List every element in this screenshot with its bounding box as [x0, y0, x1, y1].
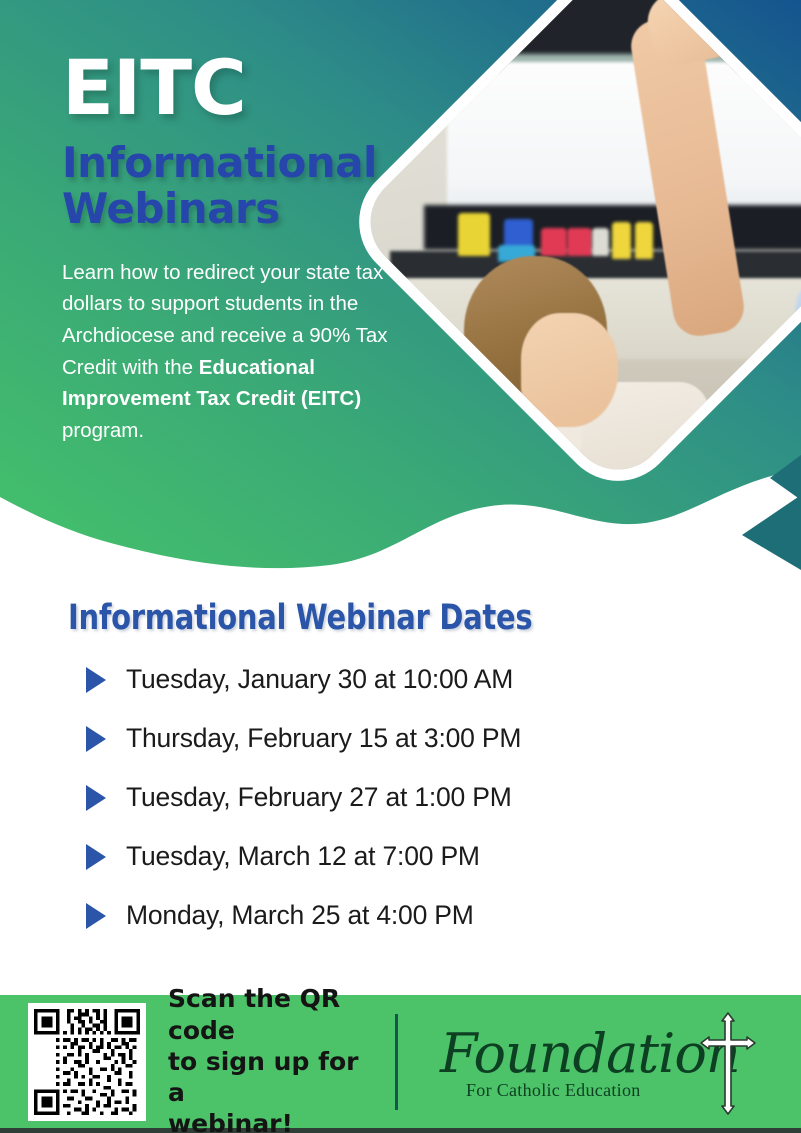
hero-text-block: EITC Informational Webinars Learn how to…: [62, 52, 422, 446]
cross-icon: [689, 1010, 767, 1118]
webinar-date-list: Tuesday, January 30 at 10:00 AM Thursday…: [86, 664, 801, 931]
qr-cta-line-2: to sign up for a: [168, 1047, 358, 1107]
list-item-label: Tuesday, January 30 at 10:00 AM: [126, 664, 513, 695]
qr-cta-text: Scan the QR code to sign up for a webina…: [168, 983, 383, 1133]
list-item-label: Tuesday, March 12 at 7:00 PM: [126, 841, 480, 872]
qr-cta-line-1: Scan the QR code: [168, 984, 340, 1044]
list-item[interactable]: Thursday, February 15 at 3:00 PM: [86, 723, 801, 754]
triangle-right-icon: [86, 726, 106, 752]
subtitle-line-1: Informational: [62, 138, 377, 187]
triangle-right-icon: [86, 844, 106, 870]
hero-description: Learn how to redirect your state tax dol…: [62, 257, 410, 446]
triangle-right-icon: [86, 903, 106, 929]
dates-heading: Informational Webinar Dates: [68, 598, 742, 638]
qr-code[interactable]: [28, 1003, 146, 1121]
qr-cta-line-3: webinar!: [168, 1109, 293, 1133]
list-item[interactable]: Tuesday, February 27 at 1:00 PM: [86, 782, 801, 813]
flyer-page: EITC Informational Webinars Learn how to…: [0, 0, 801, 1133]
footer-divider: [395, 1014, 398, 1110]
qr-code-icon: [34, 1009, 140, 1115]
list-item-label: Monday, March 25 at 4:00 PM: [126, 900, 474, 931]
triangle-right-icon: [86, 785, 106, 811]
list-item[interactable]: Tuesday, March 12 at 7:00 PM: [86, 841, 801, 872]
page-title: EITC: [62, 52, 422, 124]
page-subtitle: Informational Webinars: [62, 140, 422, 231]
list-item-label: Thursday, February 15 at 3:00 PM: [126, 723, 521, 754]
footer-bar: Scan the QR code to sign up for a webina…: [0, 995, 801, 1133]
logo-tagline: For Catholic Education: [466, 1080, 641, 1101]
list-item-label: Tuesday, February 27 at 1:00 PM: [126, 782, 512, 813]
webinar-dates-section: Informational Webinar Dates Tuesday, Jan…: [0, 598, 801, 959]
hero-description-tail: program.: [62, 419, 144, 442]
foundation-logo: Foundation For Catholic Education: [406, 1002, 801, 1122]
subtitle-line-2: Webinars: [62, 184, 280, 233]
list-item[interactable]: Monday, March 25 at 4:00 PM: [86, 900, 801, 931]
list-item[interactable]: Tuesday, January 30 at 10:00 AM: [86, 664, 801, 695]
triangle-right-icon: [86, 667, 106, 693]
